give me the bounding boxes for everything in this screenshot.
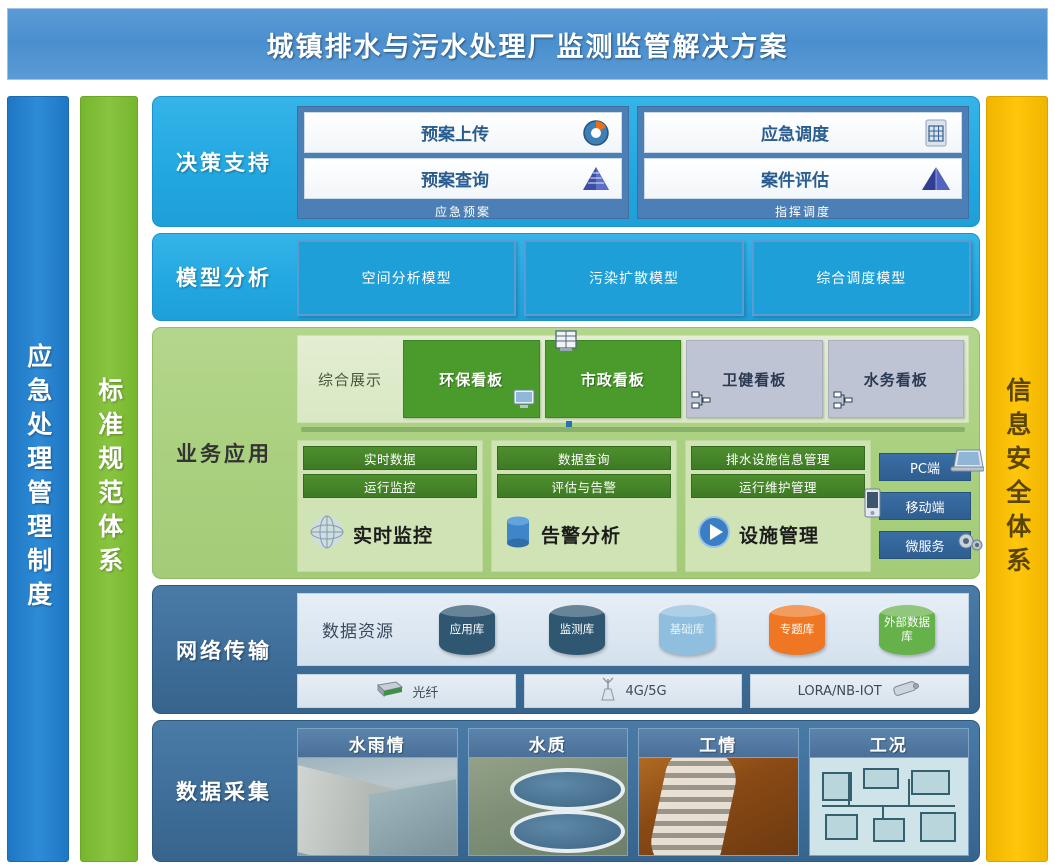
sensor-icon xyxy=(890,679,922,703)
antenna-icon xyxy=(599,676,617,706)
page-title: 城镇排水与污水处理厂监测监管解决方案 xyxy=(267,25,789,64)
dashboard-card-health[interactable]: 卫健看板 xyxy=(686,340,823,418)
decision-card-case-assessment[interactable]: 案件评估 xyxy=(644,158,962,199)
dashboard-card-label: 市政看板 xyxy=(581,369,645,390)
play-circle-icon xyxy=(695,513,733,555)
transmission-link-label: 光纤 xyxy=(412,682,438,701)
transmission-link-fiber[interactable]: 光纤 xyxy=(297,674,516,708)
terminal-mobile[interactable]: 移动端 xyxy=(879,492,971,520)
decision-card-emergency-dispatch[interactable]: 应急调度 xyxy=(644,112,962,153)
transmission-link-lpwan[interactable]: LORA/NB-IOT xyxy=(750,674,969,708)
terminal-label: 微服务 xyxy=(905,536,944,555)
layer-business-application: 业务应用 综合展示 环保看板 市政看板 xyxy=(152,327,980,579)
network-icon xyxy=(691,390,711,414)
pillar-right-label: 信息安全体系 xyxy=(1003,377,1031,581)
business-column-footer: 告警分析 xyxy=(497,502,671,566)
scada-diagram-photo xyxy=(809,758,970,856)
dashboard-card-environment[interactable]: 环保看板 xyxy=(403,340,540,418)
decision-card-plan-upload[interactable]: 预案上传 xyxy=(304,112,622,153)
layer-decision-support: 决策支持 预案上传 预案查询 xyxy=(152,96,980,227)
fiber-module-icon xyxy=(374,679,404,703)
acquisition-card-label: 工况 xyxy=(809,728,970,758)
business-application-label: 业务应用 xyxy=(153,328,295,578)
network-icon xyxy=(833,390,853,414)
decision-card-label: 应急调度 xyxy=(645,120,919,145)
terminal-microservice[interactable]: 微服务 xyxy=(879,531,971,559)
terminal-label: PC端 xyxy=(910,458,940,477)
database-cell[interactable]: 外部数据库 xyxy=(854,605,960,655)
database-application: 应用库 xyxy=(439,605,495,655)
terminal-pc[interactable]: PC端 xyxy=(879,453,971,481)
page-title-banner: 城镇排水与污水处理厂监测监管解决方案 xyxy=(7,8,1048,80)
transmission-link-label: LORA/NB-IOT xyxy=(798,684,882,699)
acquisition-card-label: 水质 xyxy=(468,728,629,758)
acquisition-card-list: 水雨情 水质 工情 工况 xyxy=(297,728,969,856)
transmission-link-label: 4G/5G xyxy=(625,684,666,699)
model-analysis-label: 模型分析 xyxy=(153,234,295,320)
life-buoy-icon xyxy=(579,119,613,147)
database-external: 外部数据库 xyxy=(879,605,935,655)
layer-network-transmission: 网络传输 数据资源 应用库 监测库 基础库 专题库 外部数据库 xyxy=(152,585,980,714)
globe-icon xyxy=(307,512,347,556)
data-acquisition-label: 数据采集 xyxy=(153,721,295,861)
database-thematic: 专题库 xyxy=(769,605,825,655)
acquisition-card-label: 水雨情 xyxy=(297,728,458,758)
decision-card-label: 预案上传 xyxy=(305,120,579,145)
database-basic: 基础库 xyxy=(659,605,715,655)
pillar-information-security: 信息安全体系 xyxy=(986,96,1048,862)
dashboard-scroll-thumb[interactable] xyxy=(566,421,572,427)
data-resource-strip: 数据资源 应用库 监测库 基础库 专题库 外部数据库 xyxy=(297,593,969,666)
model-card-spatial[interactable]: 空间分析模型 xyxy=(297,240,516,316)
business-column-footer: 设施管理 xyxy=(691,502,865,566)
decision-group-footer: 指挥调度 xyxy=(644,204,962,220)
dashboard-card-water-affairs[interactable]: 水务看板 xyxy=(828,340,965,418)
business-column-list: 实时数据 运行监控 实时监控 xyxy=(297,440,971,572)
treatment-plant-photo xyxy=(468,758,629,856)
network-transmission-label: 网络传输 xyxy=(153,586,295,713)
phone-icon xyxy=(862,488,884,522)
pyramid-icon xyxy=(919,166,953,192)
business-column-realtime: 实时数据 运行监控 实时监控 xyxy=(297,440,483,572)
business-chip-assessment-alarm[interactable]: 评估与告警 xyxy=(497,474,671,498)
business-column-name: 告警分析 xyxy=(541,521,621,548)
acquisition-card-operating-condition[interactable]: 工况 xyxy=(809,728,970,856)
pillar-emergency-management: 应急处理管理制度 xyxy=(7,96,69,862)
business-column-name: 设施管理 xyxy=(739,521,819,548)
transmission-link-list: 光纤 4G/5G LORA/NB-IOT xyxy=(297,674,969,708)
database-cell[interactable]: 专题库 xyxy=(744,605,850,655)
decision-card-label: 案件评估 xyxy=(645,166,919,191)
business-chip-realtime-data[interactable]: 实时数据 xyxy=(303,446,477,470)
layer-stack: 决策支持 预案上传 预案查询 xyxy=(152,96,980,862)
acquisition-card-label: 工情 xyxy=(638,728,799,758)
gears-icon xyxy=(956,528,986,558)
pillar-middle-label: 标准规范体系 xyxy=(95,377,123,581)
pipeline-photo xyxy=(638,758,799,856)
window-icon xyxy=(554,329,578,357)
architecture-diagram: 城镇排水与污水处理厂监测监管解决方案 应急处理管理制度 标准规范体系 信息安全体… xyxy=(0,0,1055,868)
business-chip-operation-monitoring[interactable]: 运行监控 xyxy=(303,474,477,498)
data-resource-title: 数据资源 xyxy=(306,617,410,642)
dashboard-strip: 综合展示 环保看板 市政看板 xyxy=(297,335,969,423)
database-cell[interactable]: 监测库 xyxy=(524,605,630,655)
dashboard-card-label: 环保看板 xyxy=(439,369,503,390)
database-cell[interactable]: 基础库 xyxy=(634,605,740,655)
pyramid-icon xyxy=(579,166,613,192)
decision-card-label: 预案查询 xyxy=(305,166,579,191)
business-column-alarm: 数据查询 评估与告警 告警分析 xyxy=(491,440,677,572)
monitor-icon xyxy=(513,388,535,414)
canal-photo xyxy=(297,758,458,856)
decision-group-command-dispatch: 应急调度 案件评估 xyxy=(637,106,969,219)
model-card-pollution-diffusion[interactable]: 污染扩散模型 xyxy=(524,240,743,316)
business-chip-data-query[interactable]: 数据查询 xyxy=(497,446,671,470)
database-monitoring: 监测库 xyxy=(549,605,605,655)
terminal-list: PC端 移动端 xyxy=(879,440,971,572)
terminal-label: 移动端 xyxy=(905,497,944,516)
acquisition-card-rainfall[interactable]: 水雨情 xyxy=(297,728,458,856)
dashboard-scrollbar[interactable] xyxy=(301,427,965,432)
acquisition-card-water-quality[interactable]: 水质 xyxy=(468,728,629,856)
cylinder-icon xyxy=(501,512,535,556)
business-column-name: 实时监控 xyxy=(353,521,433,548)
pillar-left-label: 应急处理管理制度 xyxy=(24,343,52,615)
dashboard-card-label: 卫健看板 xyxy=(722,369,786,390)
business-column-facility: 排水设施信息管理 运行维护管理 设施管理 xyxy=(685,440,871,572)
acquisition-card-works-status[interactable]: 工情 xyxy=(638,728,799,856)
decision-card-plan-query[interactable]: 预案查询 xyxy=(304,158,622,199)
calculator-icon xyxy=(919,119,953,147)
business-chip-operation-maintenance[interactable]: 运行维护管理 xyxy=(691,474,865,498)
transmission-link-cellular[interactable]: 4G/5G xyxy=(524,674,743,708)
model-card-list: 空间分析模型 污染扩散模型 综合调度模型 xyxy=(297,240,971,316)
decision-group-emergency-plan: 预案上传 预案查询 xyxy=(297,106,629,219)
database-cell[interactable]: 应用库 xyxy=(414,605,520,655)
dashboard-card-municipal[interactable]: 市政看板 xyxy=(545,340,682,418)
business-column-footer: 实时监控 xyxy=(303,502,477,566)
dashboard-strip-title: 综合展示 xyxy=(302,340,398,418)
layer-model-analysis: 模型分析 空间分析模型 污染扩散模型 综合调度模型 xyxy=(152,233,980,321)
model-card-integrated-dispatch[interactable]: 综合调度模型 xyxy=(752,240,971,316)
business-chip-drainage-facility-info[interactable]: 排水设施信息管理 xyxy=(691,446,865,470)
decision-group-footer: 应急预案 xyxy=(304,204,622,220)
dashboard-card-label: 水务看板 xyxy=(864,369,928,390)
laptop-icon xyxy=(950,448,984,478)
pillar-standards-system: 标准规范体系 xyxy=(80,96,138,862)
layer-data-acquisition: 数据采集 水雨情 水质 工情 工况 xyxy=(152,720,980,862)
decision-support-label: 决策支持 xyxy=(153,97,295,226)
